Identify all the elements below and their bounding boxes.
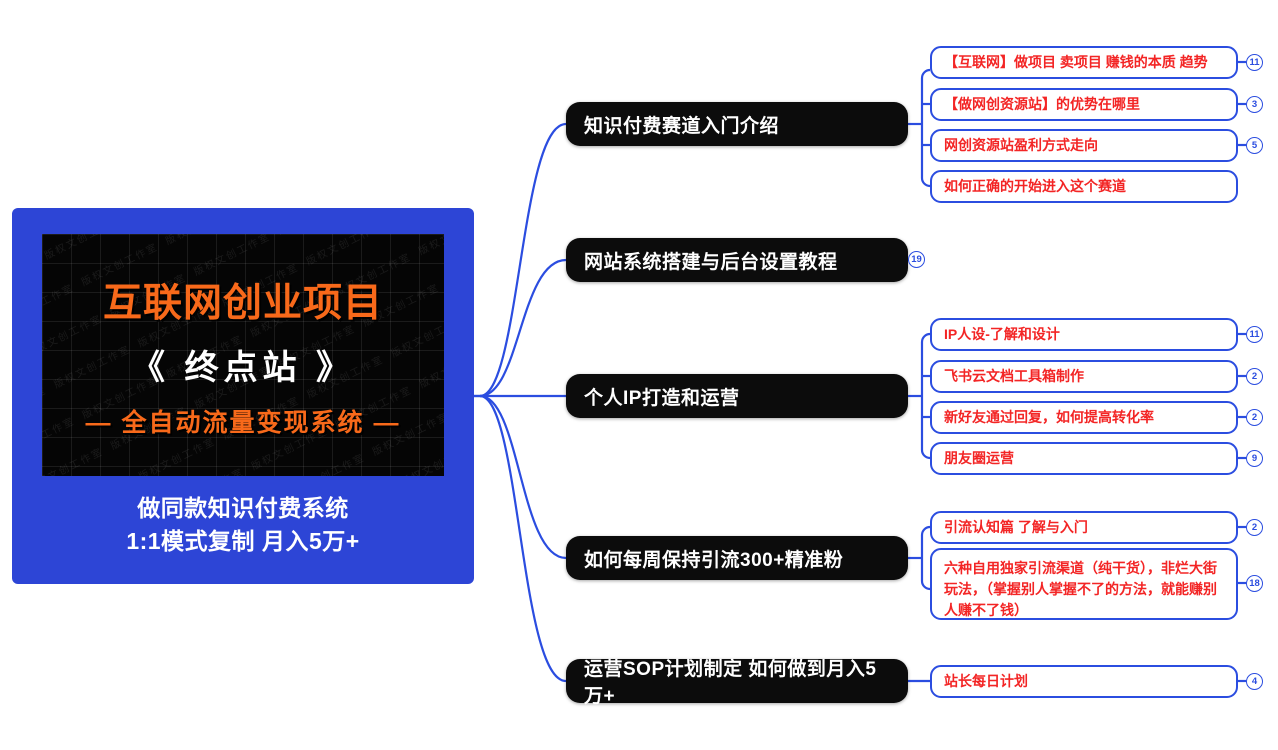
branch-node-5[interactable]: 运营SOP计划制定 如何做到月入5万+ — [566, 659, 908, 703]
root-poster-image: 版权文创工作室 版权文创工作室 版权文创工作室 版权文创工作室 版权文创工作室 … — [42, 234, 444, 476]
poster-title: 互联网创业项目 — [103, 272, 383, 328]
leaf-node-1-1-label: 【互联网】做项目 卖项目 赚钱的本质 趋势 — [944, 52, 1208, 73]
leaf-node-4-1-count-badge: 2 — [1246, 519, 1263, 536]
leaf-node-3-1-label: IP人设-了解和设计 — [944, 324, 1060, 345]
leaf-node-1-4[interactable]: 如何正确的开始进入这个赛道 — [930, 170, 1238, 203]
branch-node-2[interactable]: 网站系统搭建与后台设置教程 — [566, 238, 908, 282]
leaf-node-4-2-count-badge: 18 — [1246, 575, 1263, 592]
leaf-node-1-2[interactable]: 【做网创资源站】的优势在哪里 — [930, 88, 1238, 121]
leaf-node-3-2-label: 飞书云文档工具箱制作 — [944, 366, 1084, 387]
leaf-node-1-1[interactable]: 【互联网】做项目 卖项目 赚钱的本质 趋势 — [930, 46, 1238, 79]
mindmap-canvas: 版权文创工作室 版权文创工作室 版权文创工作室 版权文创工作室 版权文创工作室 … — [0, 0, 1278, 750]
branch-node-4-label: 如何每周保持引流300+精准粉 — [584, 545, 843, 572]
leaf-node-3-3[interactable]: 新好友通过回复，如何提高转化率 — [930, 401, 1238, 434]
branch-node-1-label: 知识付费赛道入门介绍 — [584, 111, 779, 138]
branch-node-3[interactable]: 个人IP打造和运营 — [566, 374, 908, 418]
leaf-node-5-1-count-badge: 4 — [1246, 673, 1263, 690]
leaf-node-3-4-count-badge: 9 — [1246, 450, 1263, 467]
link-branch1-spine — [922, 70, 930, 186]
leaf-node-1-3-label: 网创资源站盈利方式走向 — [944, 135, 1098, 156]
root-node[interactable]: 版权文创工作室 版权文创工作室 版权文创工作室 版权文创工作室 版权文创工作室 … — [12, 208, 474, 584]
leaf-node-1-3[interactable]: 网创资源站盈利方式走向 — [930, 129, 1238, 162]
leaf-node-1-3-count-badge: 5 — [1246, 137, 1263, 154]
root-caption: 做同款知识付费系统 1:1模式复制 月入5万+ — [126, 492, 359, 559]
leaf-node-4-2-label: 六种自用独家引流渠道（纯干货），非烂大街玩法，（掌握别人掌握不了的方法，就能赚别… — [944, 558, 1224, 621]
leaf-node-1-2-count-badge: 3 — [1246, 96, 1263, 113]
branch-node-4[interactable]: 如何每周保持引流300+精准粉 — [566, 536, 908, 580]
leaf-node-3-1-count-badge: 11 — [1246, 326, 1263, 343]
branch-node-2-label: 网站系统搭建与后台设置教程 — [584, 247, 838, 274]
leaf-node-5-1[interactable]: 站长每日计划 — [930, 665, 1238, 698]
leaf-node-1-1-count-badge: 11 — [1246, 54, 1263, 71]
leaf-node-5-1-label: 站长每日计划 — [944, 671, 1028, 692]
leaf-node-4-1[interactable]: 引流认知篇 了解与入门 — [930, 511, 1238, 544]
leaf-node-3-2-count-badge: 2 — [1246, 368, 1263, 385]
leaf-node-4-1-label: 引流认知篇 了解与入门 — [944, 517, 1088, 538]
leaf-node-1-4-label: 如何正确的开始进入这个赛道 — [944, 176, 1126, 197]
link-branch4-spine — [922, 527, 930, 589]
branch-node-1[interactable]: 知识付费赛道入门介绍 — [566, 102, 908, 146]
leaf-node-3-2[interactable]: 飞书云文档工具箱制作 — [930, 360, 1238, 393]
link-root-branch-4 — [480, 396, 566, 558]
root-caption-line-2: 1:1模式复制 月入5万+ — [126, 525, 359, 558]
leaf-node-1-2-label: 【做网创资源站】的优势在哪里 — [944, 94, 1140, 115]
leaf-node-3-4[interactable]: 朋友圈运营 — [930, 442, 1238, 475]
leaf-node-3-1[interactable]: IP人设-了解和设计 — [930, 318, 1238, 351]
leaf-node-3-3-count-badge: 2 — [1246, 409, 1263, 426]
poster-subtitle: 《 终点站 》 — [131, 340, 355, 389]
leaf-node-4-2[interactable]: 六种自用独家引流渠道（纯干货），非烂大街玩法，（掌握别人掌握不了的方法，就能赚别… — [930, 548, 1238, 620]
branch-node-3-label: 个人IP打造和运营 — [584, 383, 739, 410]
leaf-node-3-3-label: 新好友通过回复，如何提高转化率 — [944, 407, 1154, 428]
branch-node-2-count-badge: 19 — [908, 251, 925, 268]
leaf-node-3-4-label: 朋友圈运营 — [944, 448, 1014, 469]
link-root-branch-2 — [480, 260, 566, 396]
poster-tagline: — 全自动流量变现系统 — — [86, 403, 401, 439]
link-root-branch-5 — [480, 396, 566, 681]
branch-node-5-label: 运营SOP计划制定 如何做到月入5万+ — [584, 654, 890, 708]
link-branch3-spine — [922, 334, 930, 458]
root-caption-line-1: 做同款知识付费系统 — [126, 492, 359, 525]
link-root-branch-1 — [474, 124, 566, 396]
